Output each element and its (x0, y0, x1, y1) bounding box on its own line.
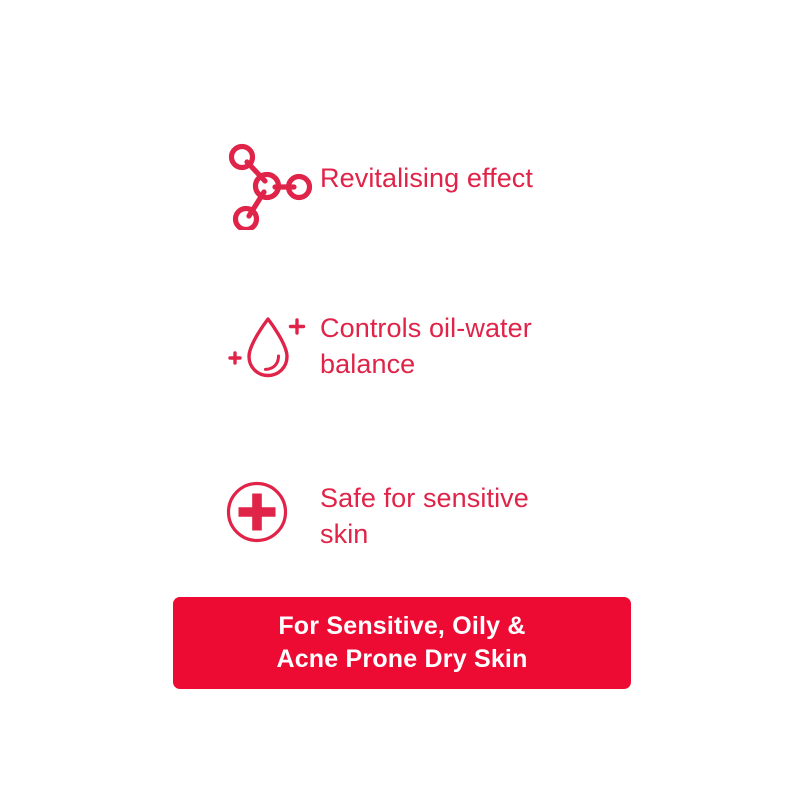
benefit-label: Safe for sensitive skin (320, 470, 560, 552)
molecule-icon (225, 140, 320, 230)
benefit-label: Revitalising effect (320, 140, 560, 196)
water-droplet-plus-icon (225, 300, 320, 392)
skin-type-banner: For Sensitive, Oily & Acne Prone Dry Ski… (173, 597, 631, 689)
benefit-item-safe-sensitive-skin: Safe for sensitive skin (225, 470, 645, 552)
circle-plus-icon (225, 470, 320, 544)
benefit-item-oil-water-balance: Controls oil-water balance (225, 300, 645, 392)
benefit-label: Controls oil-water balance (320, 300, 560, 382)
skin-type-banner-text: For Sensitive, Oily & Acne Prone Dry Ski… (276, 610, 527, 676)
product-benefits-panel: Revitalising effect (0, 0, 800, 800)
benefit-item-revitalising: Revitalising effect (225, 140, 645, 230)
